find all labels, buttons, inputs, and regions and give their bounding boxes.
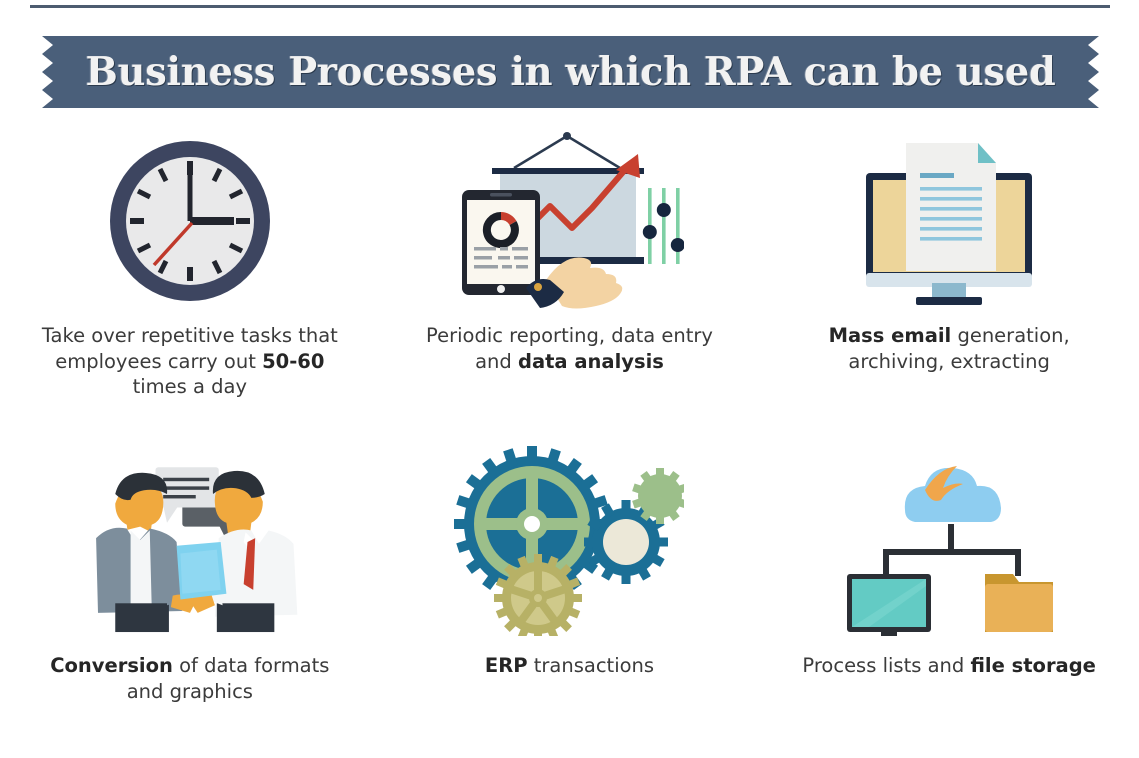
caption-mass-email: Mass email generation, archiving, extrac…	[794, 323, 1104, 374]
pointing-hand	[526, 257, 622, 308]
cloud-shape	[905, 466, 1001, 522]
banner: Business Processes in which RPA can be u…	[28, 36, 1113, 108]
top-divider-rule	[30, 5, 1110, 8]
slider-knob	[643, 225, 657, 239]
cell-mass-email: Mass email generation, archiving, extrac…	[759, 120, 1139, 435]
caption-part: transactions	[528, 654, 655, 677]
caption-part: Process lists and	[802, 654, 970, 677]
caption-repetitive-tasks: Take over repetitive tasks that employee…	[35, 323, 345, 400]
cell-data-conversion: Conversion of data formats and graphics	[0, 435, 380, 750]
gears-icon-wrap	[454, 443, 684, 639]
caption-part-bold: data analysis	[518, 350, 664, 373]
hanging-wire	[514, 132, 620, 168]
cell-file-storage: Process lists and file storage	[759, 435, 1139, 750]
banner-title: Business Processes in which RPA can be u…	[39, 36, 1102, 108]
clock-icon-wrap	[75, 128, 305, 313]
presentation-chart-icon-wrap	[454, 128, 684, 313]
caption-part-bold: Mass email	[829, 324, 952, 347]
gears-icon	[454, 446, 684, 636]
tablet-device	[462, 190, 540, 295]
cloud-storage-icon	[839, 446, 1059, 636]
caption-part-bold: 50-60	[262, 350, 324, 373]
caption-data-conversion: Conversion of data formats and graphics	[35, 653, 345, 704]
people-conversation-icon	[75, 446, 305, 636]
caption-periodic-reporting: Periodic reporting, data entry and data …	[414, 323, 724, 374]
content-grid: Take over repetitive tasks that employee…	[0, 120, 1139, 750]
cell-periodic-reporting: Periodic reporting, data entry and data …	[380, 120, 760, 435]
connector-lines	[883, 524, 1021, 578]
cloud-storage-icon-wrap	[834, 443, 1064, 639]
cell-erp-transactions: ERP transactions	[380, 435, 760, 750]
caption-part-bold: file storage	[970, 654, 1095, 677]
monitor-document-icon	[844, 131, 1054, 311]
caption-part-bold: Conversion	[50, 654, 173, 677]
slider-controls	[643, 188, 684, 264]
caption-file-storage: Process lists and file storage	[802, 653, 1096, 679]
people-conversation-icon-wrap	[75, 443, 305, 639]
monitor-device	[847, 574, 931, 636]
monitor-document-icon-wrap	[834, 128, 1064, 313]
presentation-chart-icon	[454, 128, 684, 313]
caption-part: times a day	[133, 375, 247, 398]
clock-icon	[104, 135, 276, 307]
document-page	[906, 143, 996, 271]
caption-erp-transactions: ERP transactions	[485, 653, 654, 679]
folder-icon	[985, 574, 1053, 632]
slider-knob	[671, 238, 684, 252]
cell-repetitive-tasks: Take over repetitive tasks that employee…	[0, 120, 380, 435]
caption-part-bold: ERP	[485, 654, 528, 677]
infographic-page: Business Processes in which RPA can be u…	[0, 0, 1139, 758]
slider-knob	[657, 203, 671, 217]
